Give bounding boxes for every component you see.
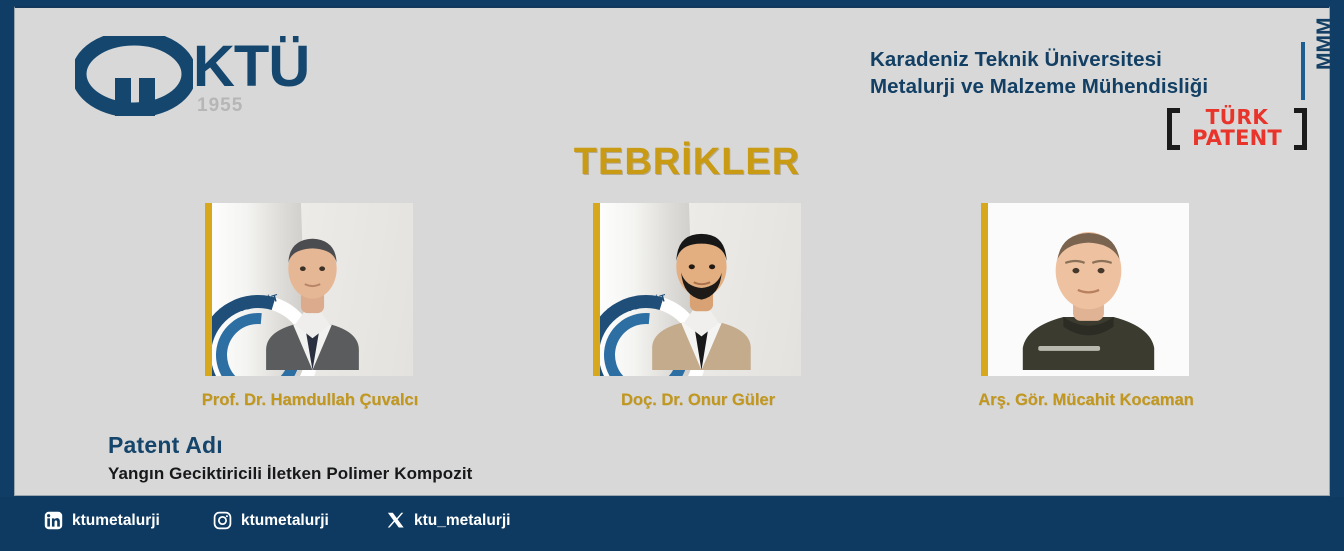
instagram-icon [213, 511, 232, 530]
poster-frame-left [0, 0, 15, 497]
portrait-caption-3: Arş. Gör. Mücahit Kocaman [941, 391, 1231, 410]
portrait-caption-2: Doç. Dr. Onur Güler [553, 391, 843, 410]
mmm-vertical-label: MMM [1293, 44, 1344, 98]
portrait-image-3 [988, 203, 1189, 376]
x-handle: ktu_metalurji [414, 512, 510, 530]
patent-heading: Patent Adı [108, 432, 223, 459]
ktu-logo-year: 1955 [197, 96, 243, 115]
poster-content-card: KTÜ 1955 Karadeniz Teknik Üniversitesi M… [14, 6, 1330, 496]
portrait-image-2: ÜNİVERSİT [600, 203, 801, 376]
portrait-image-1: ÜNİVERSİT [212, 203, 413, 376]
person-figure-1 [212, 203, 413, 370]
social-link-x[interactable]: ktu_metalurji [386, 511, 510, 530]
patent-name: Yangın Geciktiricili İletken Polimer Kom… [108, 464, 472, 484]
person-figure-3 [988, 203, 1189, 370]
social-link-linkedin[interactable]: ktumetalurji [44, 511, 160, 530]
social-footer: ktumetalurji ktumetalurji ktu_metalurji [0, 497, 1344, 551]
instagram-handle: ktumetalurji [241, 512, 329, 530]
page-title: TEBRİKLER [15, 141, 1344, 184]
congratulations-poster: KTÜ 1955 Karadeniz Teknik Üniversitesi M… [0, 0, 1344, 551]
portrait-caption-1: Prof. Dr. Hamdullah Çuvalcı [165, 391, 455, 410]
department-line-1: Karadeniz Teknik Üniversitesi [870, 46, 1208, 73]
portrait-card-2: ÜNİVERSİT [593, 203, 801, 376]
person-figure-2 [600, 203, 801, 370]
linkedin-icon [44, 511, 63, 530]
ktu-logo: KTÜ 1955 [75, 34, 345, 120]
portrait-card-3 [981, 203, 1189, 376]
mmm-text: MMM [1313, 16, 1337, 70]
social-link-instagram[interactable]: ktumetalurji [213, 511, 329, 530]
ktu-logo-text: KTÜ [193, 38, 309, 96]
turk-patent-line-1: TÜRK [1167, 107, 1307, 127]
portrait-card-1: ÜNİVERSİT [205, 203, 413, 376]
department-title: Karadeniz Teknik Üniversitesi Metalurji … [870, 46, 1208, 100]
ktu-emblem-icon [75, 36, 193, 116]
x-twitter-icon [386, 511, 405, 530]
linkedin-handle: ktumetalurji [72, 512, 160, 530]
department-line-2: Metalurji ve Malzeme Mühendisliği [870, 73, 1208, 100]
